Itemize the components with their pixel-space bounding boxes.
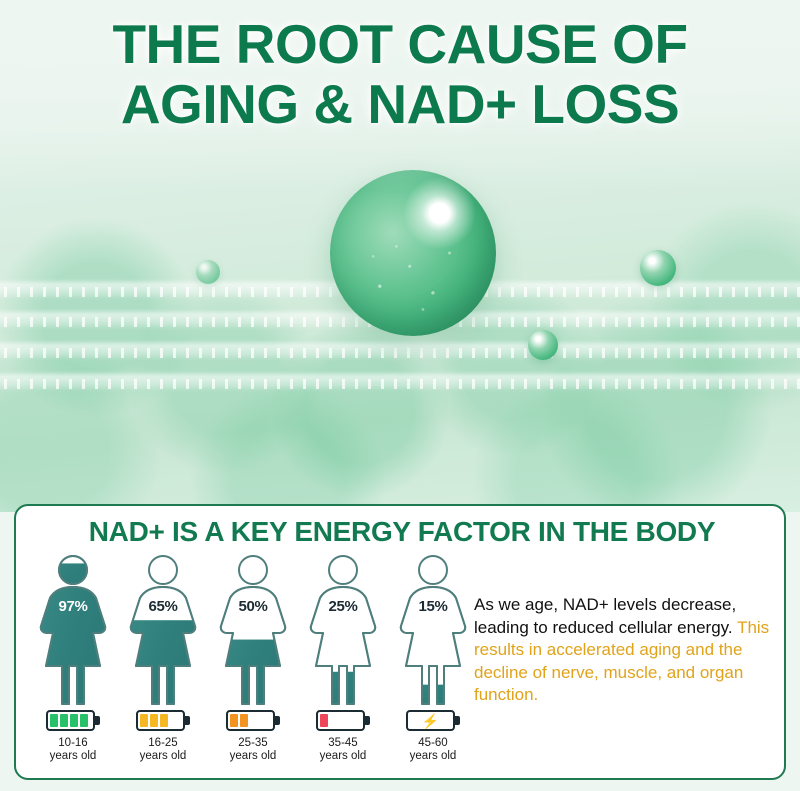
age-range-unit: years old bbox=[50, 750, 97, 763]
title-line-1: THE ROOT CAUSE OF bbox=[112, 13, 687, 75]
bead-icon bbox=[528, 330, 558, 360]
battery-cell bbox=[160, 714, 168, 727]
figure-percent-label: 97% bbox=[32, 598, 114, 615]
battery-low-icon bbox=[316, 710, 370, 731]
battery-cell bbox=[320, 714, 328, 727]
figure-percent-label: 25% bbox=[302, 598, 384, 615]
battery-three-quarters-icon bbox=[136, 710, 190, 731]
person-figure: 50% bbox=[212, 554, 294, 706]
age-range-value: 25-35 bbox=[230, 737, 277, 750]
battery-cell bbox=[150, 714, 158, 727]
person-figure: 25% bbox=[302, 554, 384, 706]
age-range-value: 45-60 bbox=[410, 737, 457, 750]
age-range-unit: years old bbox=[320, 750, 367, 763]
age-range-value: 16-25 bbox=[140, 737, 187, 750]
info-panel: NAD+ IS A KEY ENERGY FACTOR IN THE BODY … bbox=[14, 504, 786, 780]
age-range-label: 16-25years old bbox=[140, 737, 187, 763]
battery-terminal bbox=[455, 716, 460, 725]
figure-percent-label: 65% bbox=[122, 598, 204, 615]
battery-cell bbox=[230, 714, 238, 727]
age-range-label: 35-45years old bbox=[320, 737, 367, 763]
figure-column: 15%⚡45-60years old bbox=[390, 554, 476, 763]
title-line-2: AGING & NAD+ LOSS bbox=[0, 74, 800, 134]
battery-cell bbox=[70, 714, 78, 727]
age-range-unit: years old bbox=[140, 750, 187, 763]
age-range-value: 35-45 bbox=[320, 737, 367, 750]
battery-cell bbox=[80, 714, 88, 727]
battery-half-icon bbox=[226, 710, 280, 731]
battery-cell bbox=[60, 714, 68, 727]
age-range-label: 25-35years old bbox=[230, 737, 277, 763]
battery-full-icon bbox=[46, 710, 100, 731]
age-range-label: 10-16years old bbox=[50, 737, 97, 763]
age-range-value: 10-16 bbox=[50, 737, 97, 750]
figure-column: 65%16-25years old bbox=[120, 554, 206, 763]
figure-percent-label: 50% bbox=[212, 598, 294, 615]
copy-dark-text: As we age, NAD+ levels decrease, leading… bbox=[474, 595, 736, 637]
lightning-bolt-icon: ⚡ bbox=[410, 714, 451, 728]
person-figure: 97% bbox=[32, 554, 114, 706]
green-glass-sphere bbox=[330, 170, 496, 336]
person-figure: 15% bbox=[392, 554, 474, 706]
figure-column: 50%25-35years old bbox=[210, 554, 296, 763]
age-range-unit: years old bbox=[230, 750, 277, 763]
battery-cell bbox=[140, 714, 148, 727]
figure-percent-label: 15% bbox=[392, 598, 474, 615]
figure-column: 97%10-16years old bbox=[30, 554, 116, 763]
bead-icon bbox=[196, 260, 220, 284]
battery-terminal bbox=[185, 716, 190, 725]
battery-cell bbox=[50, 714, 58, 727]
panel-heading: NAD+ IS A KEY ENERGY FACTOR IN THE BODY bbox=[16, 516, 786, 548]
battery-charging-bolt-icon: ⚡ bbox=[406, 710, 460, 731]
body-copy: As we age, NAD+ levels decrease, leading… bbox=[474, 594, 774, 707]
battery-terminal bbox=[365, 716, 370, 725]
age-range-unit: years old bbox=[410, 750, 457, 763]
bead-icon bbox=[640, 250, 676, 286]
battery-terminal bbox=[95, 716, 100, 725]
page-title: THE ROOT CAUSE OF AGING & NAD+ LOSS bbox=[0, 14, 800, 134]
battery-cell bbox=[240, 714, 248, 727]
figure-chart: 97%10-16years old65%16-25years old50%25-… bbox=[30, 554, 476, 763]
battery-terminal bbox=[275, 716, 280, 725]
figure-column: 25%35-45years old bbox=[300, 554, 386, 763]
age-range-label: 45-60years old bbox=[410, 737, 457, 763]
person-figure: 65% bbox=[122, 554, 204, 706]
